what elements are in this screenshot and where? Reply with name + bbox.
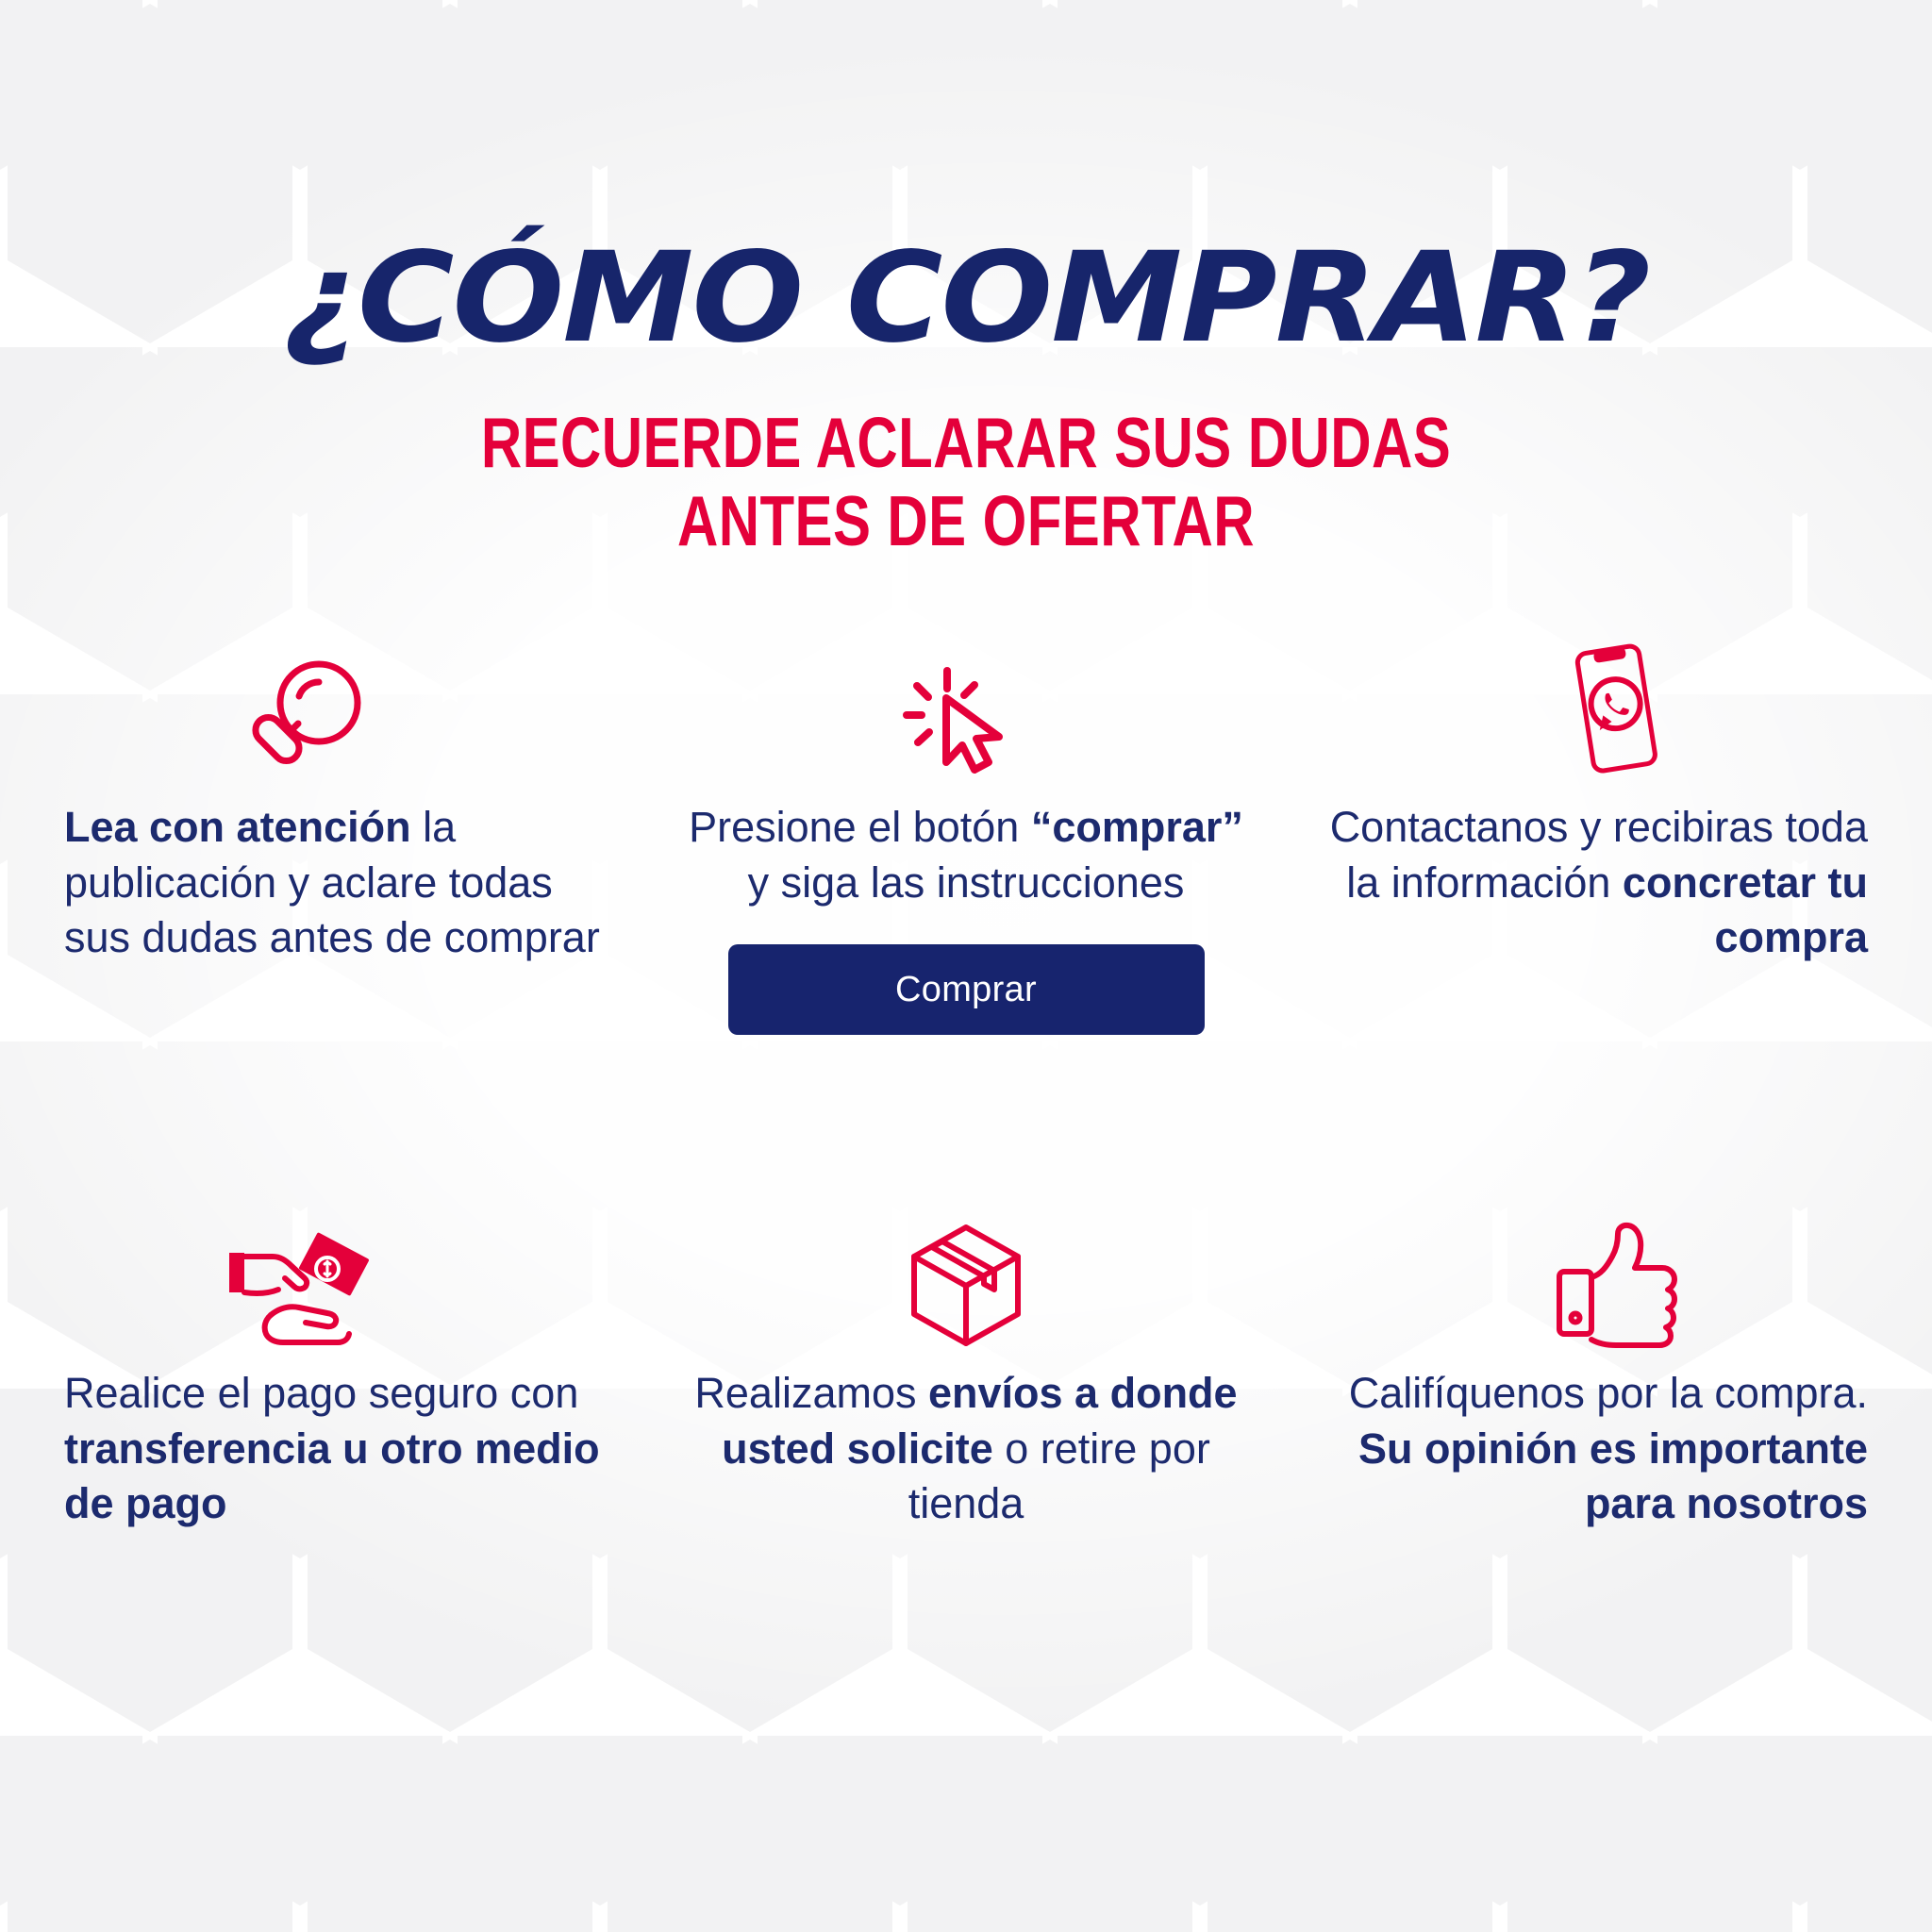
steps-row-top: Lea con atención la publicación y aclare… — [38, 651, 1894, 1179]
step-press-buy-text-bold-1: “comprar” — [1031, 803, 1243, 851]
step-payment-text-bold-1: transferencia u otro medio de pago — [64, 1424, 600, 1528]
step-press-buy-icon-wrap — [905, 651, 1027, 783]
step-payment-text: Realice el pago seguro con transferencia… — [64, 1366, 630, 1532]
header: ¿CÓMO COMPRAR? RECUERDE ACLARAR SUS DUDA… — [0, 236, 1932, 559]
step-press-buy-text: Presione el botón “comprar” y siga las i… — [683, 800, 1249, 910]
step-payment-icon-wrap — [222, 1217, 382, 1349]
step-rating-text-bold-1: Su opinión es importante para nosotros — [1358, 1424, 1868, 1528]
step-shipping-text: Realizamos envíos a donde usted solicite… — [683, 1366, 1249, 1532]
package-box-icon — [905, 1222, 1027, 1349]
magnifier-icon — [231, 651, 373, 783]
cash-hand-icon — [222, 1217, 382, 1349]
page-subtitle-line2: ANTES DE OFERTAR — [193, 482, 1739, 560]
step-payment: Realice el pago seguro con transferencia… — [38, 1217, 657, 1532]
step-contact: Contactanos y recibiras toda la informac… — [1275, 651, 1894, 1179]
step-shipping-icon-wrap — [905, 1217, 1027, 1349]
step-shipping: Realizamos envíos a donde usted solicite… — [657, 1217, 1275, 1532]
infographic-page: ¿CÓMO COMPRAR? RECUERDE ACLARAR SUS DUDA… — [0, 0, 1932, 1932]
step-read: Lea con atención la publicación y aclare… — [38, 651, 657, 1179]
step-contact-icon-wrap — [1556, 651, 1678, 783]
step-shipping-text-part-0: Realizamos — [694, 1369, 928, 1417]
click-cursor-icon — [905, 660, 1027, 783]
step-rating-icon-wrap — [1554, 1217, 1681, 1349]
step-contact-text: Contactanos y recibiras toda la informac… — [1302, 800, 1868, 966]
step-read-text-bold-0: Lea con atención — [64, 803, 411, 851]
thumbs-up-icon — [1554, 1226, 1681, 1349]
page-subtitle-line1: RECUERDE ACLARAR SUS DUDAS — [193, 404, 1739, 482]
whatsapp-phone-icon — [1556, 641, 1678, 783]
step-press-buy-text-part-2: y siga las instrucciones — [748, 858, 1185, 907]
step-press-buy-text-part-0: Presione el botón — [689, 803, 1031, 851]
steps-row-bottom: Realice el pago seguro con transferencia… — [38, 1217, 1894, 1532]
step-press-buy: Presione el botón “comprar” y siga las i… — [657, 651, 1275, 1179]
step-contact-text-bold-1: concretar tu compra — [1623, 858, 1868, 962]
step-payment-text-part-0: Realice el pago seguro con — [64, 1369, 578, 1417]
step-rating: Califíquenos por la compra. Su opinión e… — [1275, 1217, 1894, 1532]
comprar-button[interactable]: Comprar — [728, 944, 1205, 1035]
step-read-text: Lea con atención la publicación y aclare… — [64, 800, 630, 966]
step-read-icon-wrap — [231, 651, 373, 783]
step-rating-text: Califíquenos por la compra. Su opinión e… — [1302, 1366, 1868, 1532]
page-title: ¿CÓMO COMPRAR? — [0, 236, 1932, 360]
steps-grid: Lea con atención la publicación y aclare… — [38, 651, 1894, 1532]
page-subtitle: RECUERDE ACLARAR SUS DUDAS ANTES DE OFER… — [193, 404, 1739, 559]
step-rating-text-part-0: Califíquenos por la compra. — [1349, 1369, 1868, 1417]
